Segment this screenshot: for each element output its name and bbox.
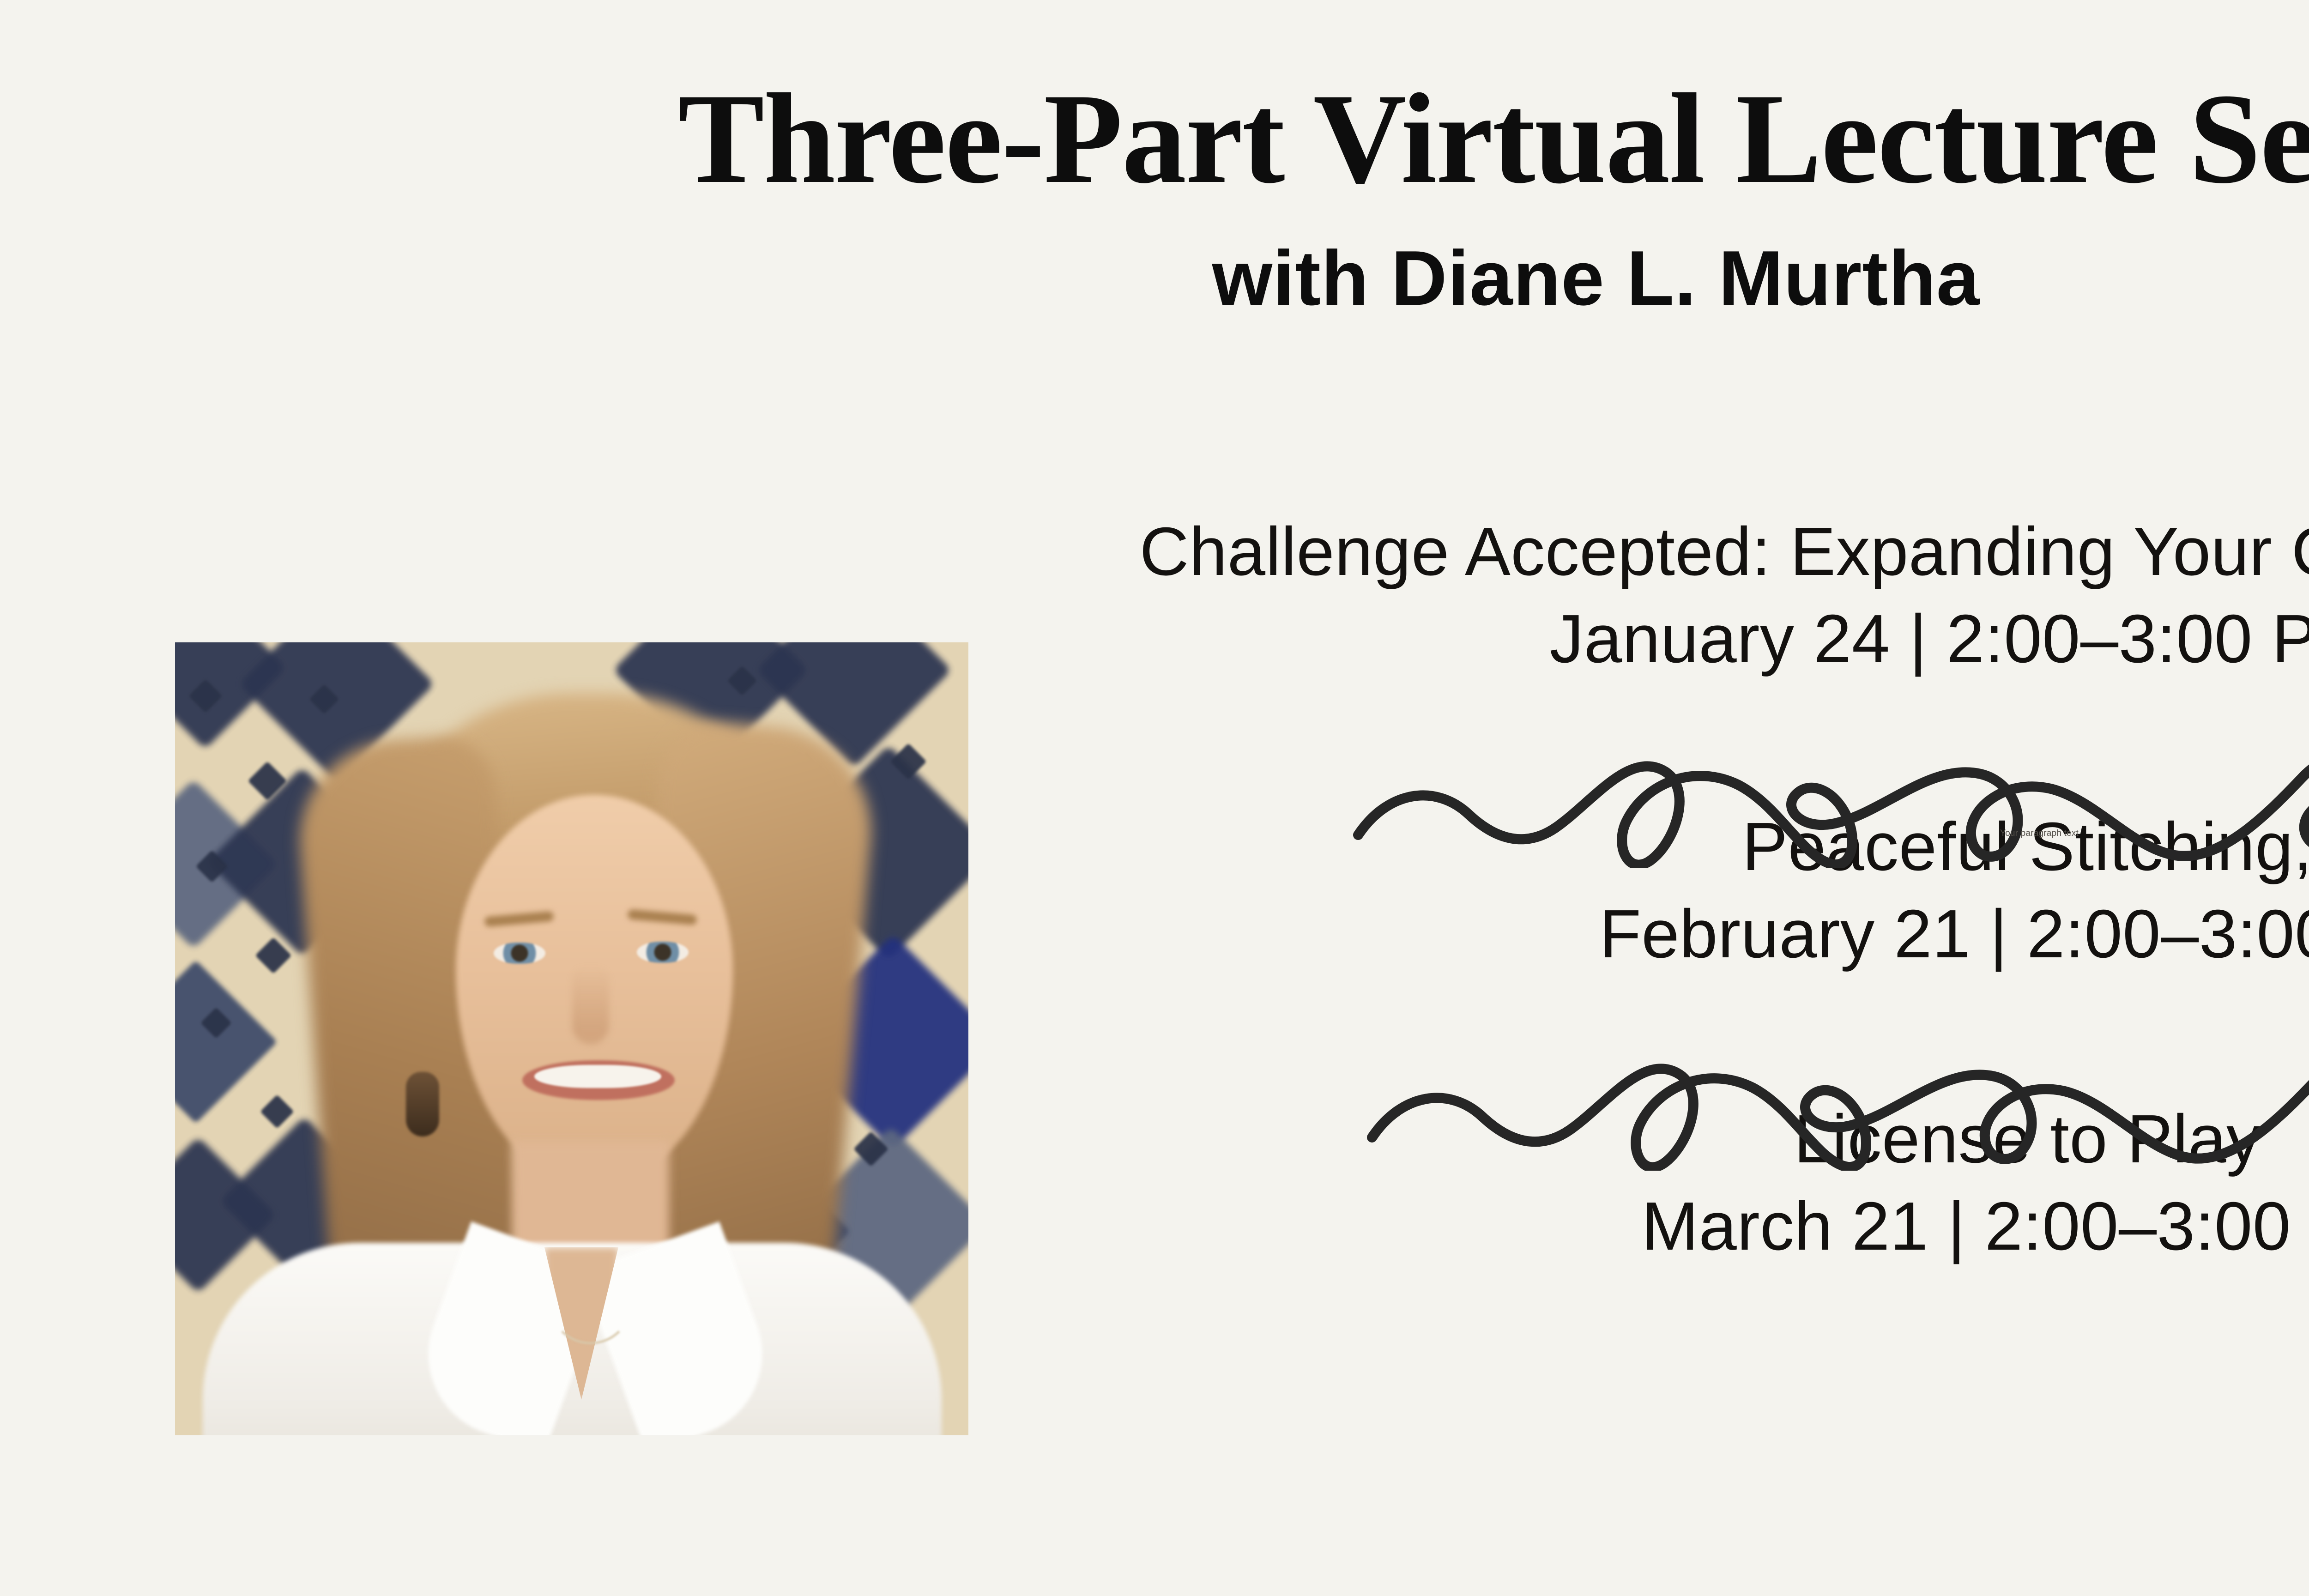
lecture-date: January 24 | 2:00–3:00 PM text — [979, 595, 2309, 683]
page-subtitle: with Diane L. Murtha — [0, 203, 2309, 317]
portrait-image — [175, 642, 968, 1435]
flourish-divider-icon — [1351, 757, 2309, 868]
speaker-portrait — [175, 642, 968, 1435]
paragraph-note: Your paragraph text — [2000, 828, 2079, 839]
page-title: Three-Part Virtual Lecture Series — [0, 0, 2309, 203]
lecture-item: Challenge Accepted: Expanding Your Creat… — [979, 508, 2309, 683]
header: Three-Part Virtual Lecture Series with D… — [0, 0, 2309, 317]
flourish-divider-icon — [1365, 1060, 2309, 1171]
portrait-subject — [175, 642, 968, 1435]
lecture-title: Challenge Accepted: Expanding Your Creat… — [979, 508, 2309, 595]
lecture-date: March 21 | 2:00–3:00 PM — [979, 1183, 2309, 1270]
lecture-date: February 21 | 2:00–3:00 PM — [979, 890, 2309, 978]
